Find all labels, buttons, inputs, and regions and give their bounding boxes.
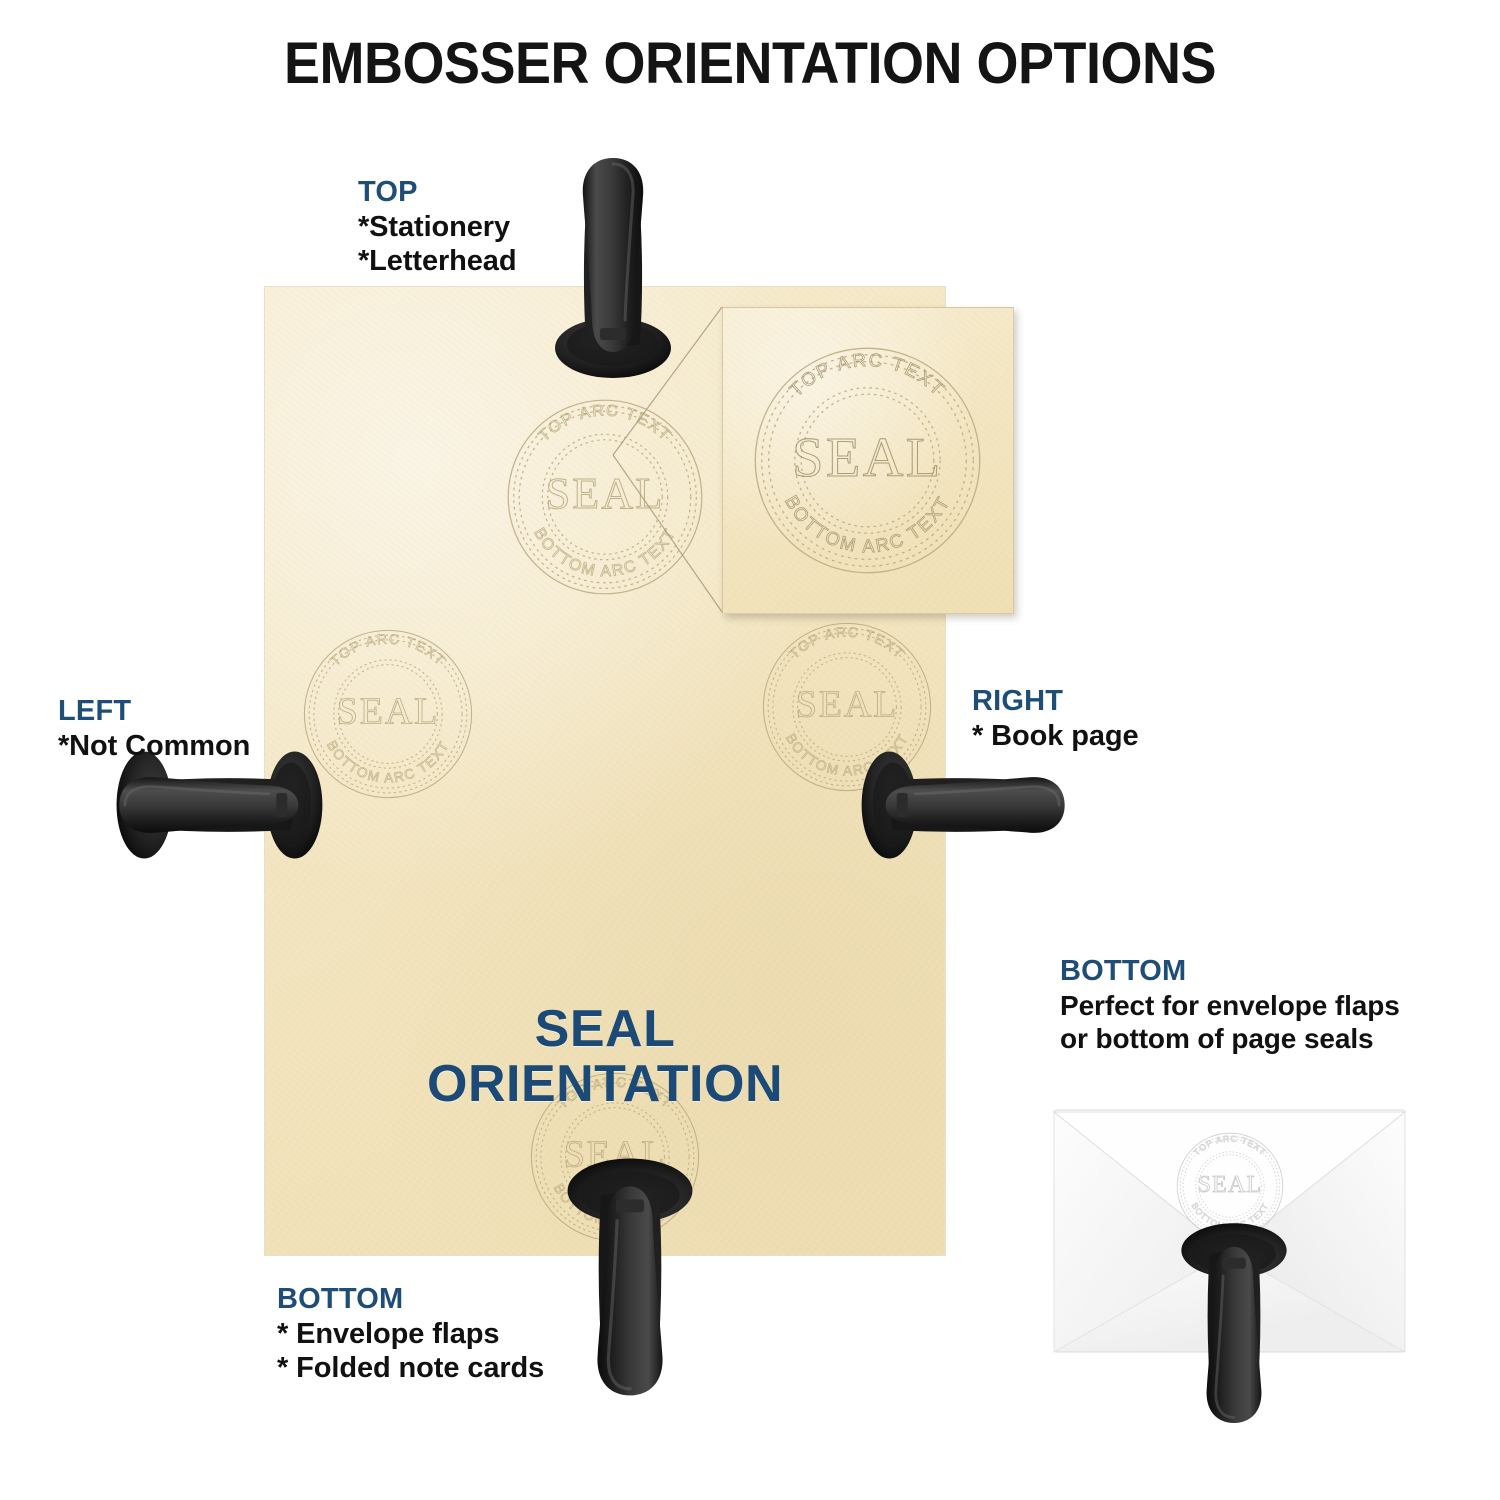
embosser-bottom-page [560,1148,700,1408]
magnifier-callout: TOP ARC TEXT BOTTOM ARC TEXT SEAL [722,307,1014,614]
svg-text:TOP ARC TEXT: TOP ARC TEXT [1192,1133,1269,1157]
embosser-top [548,152,678,382]
seal-center-text: SEAL [337,691,440,733]
annotation-right-line-0: * Book page [972,719,1139,754]
infographic-canvas: EMBOSSER ORIENTATION OPTIONS TOP ARC T [0,0,1500,1500]
embosser-envelope [1175,1204,1293,1444]
annotation-bottom-page-line-1: * Folded note cards [277,1351,544,1386]
envelope-illustration: TOP ARC TEXT BOTTOM ARC TEXT SEAL [1052,1104,1407,1366]
seal-impression-top: TOP ARC TEXT BOTTOM ARC TEXT SEAL [495,387,715,607]
annotation-right: RIGHT * Book page [972,685,1139,753]
annotation-bottom-envelope-line-1: or bottom of page seals [1060,1022,1400,1056]
annotation-bottom-page: BOTTOM * Envelope flaps * Folded note ca… [277,1283,544,1386]
annotation-left: LEFT *Not Common [58,695,250,763]
annotation-left-line-0: *Not Common [58,729,250,764]
annotation-left-heading: LEFT [58,695,250,729]
seal-top-arc: TOP ARC TEXT [787,625,908,662]
seal-center-text: SEAL [796,684,899,726]
seal-top-arc: TOP ARC TEXT [785,349,950,400]
seal-top-arc: TOP ARC TEXT [328,632,449,669]
annotation-top-heading: TOP [358,176,516,210]
seal-top-arc: TOP ARC TEXT [1192,1133,1269,1157]
svg-text:TOP ARC TEXT: TOP ARC TEXT [787,625,908,662]
annotation-bottom-envelope-heading: BOTTOM [1060,955,1400,989]
svg-text:TOP ARC TEXT: TOP ARC TEXT [785,349,950,400]
embosser-right [845,745,1085,865]
seal-center-text: SEAL [792,427,942,489]
seal-orientation-line2: ORIENTATION [265,1057,945,1112]
annotation-bottom-page-heading: BOTTOM [277,1283,544,1317]
seal-orientation-label: SEAL ORIENTATION [265,1002,945,1112]
annotation-bottom-envelope-line-0: Perfect for envelope flaps [1060,989,1400,1023]
annotation-bottom-envelope: BOTTOM Perfect for envelope flaps or bot… [1060,955,1400,1056]
seal-center-text: SEAL [1198,1172,1263,1198]
seal-orientation-line1: SEAL [535,1000,676,1058]
annotation-bottom-page-line-0: * Envelope flaps [277,1317,544,1352]
annotation-right-heading: RIGHT [972,685,1139,719]
svg-text:TOP ARC TEXT: TOP ARC TEXT [536,402,675,445]
svg-text:TOP ARC TEXT: TOP ARC TEXT [328,632,449,669]
annotation-top: TOP *Stationery *Letterhead [358,176,516,279]
seal-top-arc: TOP ARC TEXT [536,402,675,445]
annotation-top-line-1: *Letterhead [358,244,516,279]
seal-center-text: SEAL [546,469,665,518]
seal-impression-magnified: TOP ARC TEXT BOTTOM ARC TEXT SEAL [740,333,995,588]
annotation-top-line-0: *Stationery [358,210,516,245]
page-title: EMBOSSER ORIENTATION OPTIONS [53,30,1448,97]
